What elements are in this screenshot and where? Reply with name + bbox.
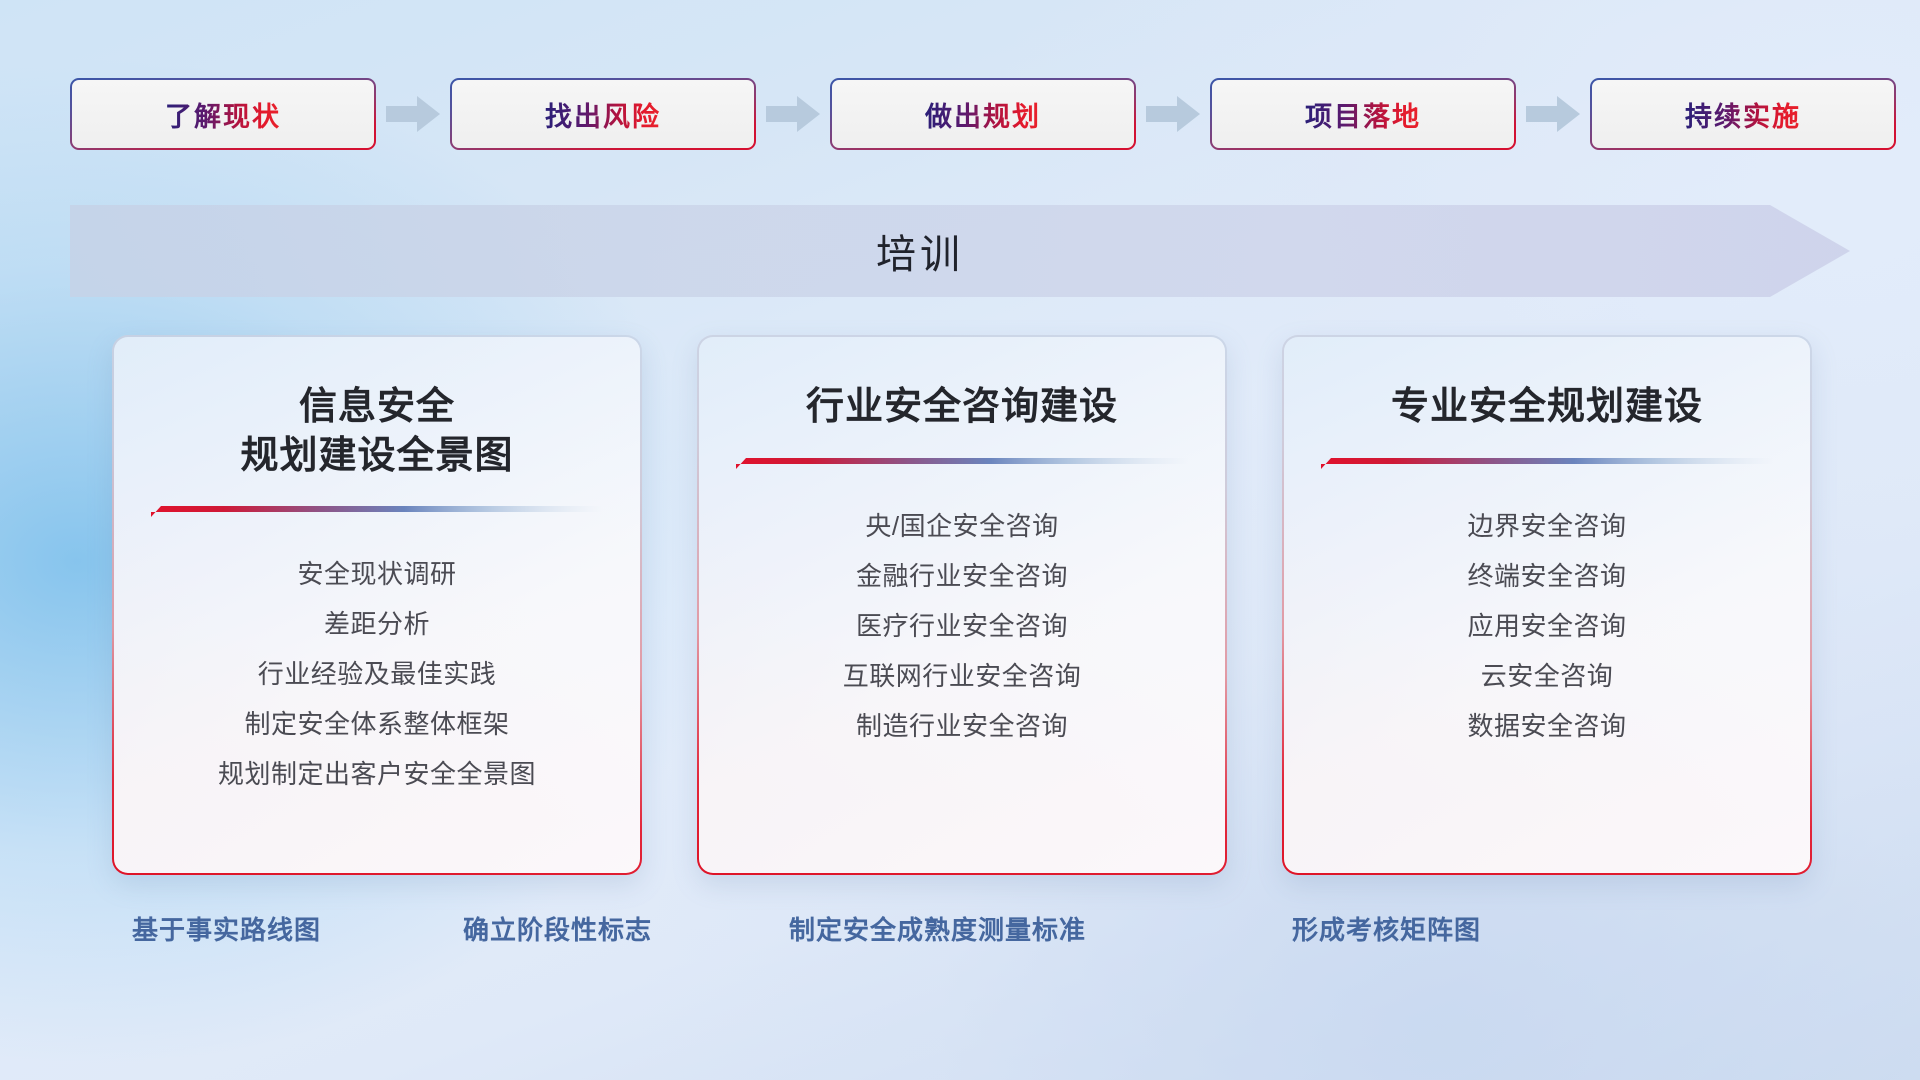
step-box-2[interactable]: 找出风险 <box>450 78 756 150</box>
card-3-inner: 专业安全规划建设 <box>1284 337 1810 873</box>
bottom-label-4: 形成考核矩阵图 <box>1292 910 1481 947</box>
card-2-list-item: 医疗行业安全咨询 <box>725 601 1199 651</box>
card-2-list-item: 央/国企安全咨询 <box>725 501 1199 551</box>
arrow-right-icon-4 <box>1524 92 1582 136</box>
step-box-4-inner: 项目落地 <box>1212 80 1514 148</box>
card-1-divider <box>151 506 603 517</box>
step-label-5: 持续实施 <box>1685 95 1801 134</box>
slide-canvas: 了解现状 找出风险 做出规划 <box>0 0 1920 1080</box>
step-box-3[interactable]: 做出规划 <box>830 78 1136 150</box>
bottom-label-1: 基于事实路线图 <box>132 910 321 947</box>
process-step-strip: 了解现状 找出风险 做出规划 <box>70 78 1850 150</box>
bottom-label-2: 确立阶段性标志 <box>463 910 652 947</box>
card-2-title: 行业安全咨询建设 <box>806 383 1118 432</box>
card-3-list-item: 应用安全咨询 <box>1310 601 1784 651</box>
arrow-right-icon-3 <box>1144 92 1202 136</box>
step-box-5-inner: 持续实施 <box>1592 80 1894 148</box>
step-box-2-inner: 找出风险 <box>452 80 754 148</box>
card-1-list-item: 行业经验及最佳实践 <box>140 649 614 699</box>
card-2-divider <box>736 458 1188 469</box>
card-1-title-line2: 规划建设全景图 <box>240 432 513 481</box>
card-1-list-item: 制定安全体系整体框架 <box>140 699 614 749</box>
card-3-divider <box>1321 458 1773 469</box>
step-box-1-inner: 了解现状 <box>72 80 374 148</box>
bottom-label-3: 制定安全成熟度测量标准 <box>789 910 1086 947</box>
step-label-3: 做出规划 <box>925 95 1041 134</box>
card-1-inner: 信息安全 规划建设全景图 <box>114 337 640 873</box>
card-1-title: 信息安全 规划建设全景图 <box>240 383 513 480</box>
card-3-list-item: 云安全咨询 <box>1310 651 1784 701</box>
card-3-title-line1: 专业安全规划建设 <box>1391 383 1703 432</box>
step-box-3-inner: 做出规划 <box>832 80 1134 148</box>
step-label-4: 项目落地 <box>1305 95 1421 134</box>
step-box-1[interactable]: 了解现状 <box>70 78 376 150</box>
card-3-title: 专业安全规划建设 <box>1391 383 1703 432</box>
card-1-list-item: 差距分析 <box>140 599 614 649</box>
card-3[interactable]: 专业安全规划建设 <box>1282 335 1812 875</box>
card-2-list-item: 互联网行业安全咨询 <box>725 651 1199 701</box>
step-box-5[interactable]: 持续实施 <box>1590 78 1896 150</box>
training-title: 培训 <box>70 205 1770 297</box>
card-1[interactable]: 信息安全 规划建设全景图 <box>112 335 642 875</box>
card-2[interactable]: 行业安全咨询建设 <box>697 335 1227 875</box>
card-2-inner: 行业安全咨询建设 <box>699 337 1225 873</box>
card-2-list: 央/国企安全咨询 金融行业安全咨询 医疗行业安全咨询 互联网行业安全咨询 制造行… <box>725 501 1199 751</box>
step-box-4[interactable]: 项目落地 <box>1210 78 1516 150</box>
card-3-list-item: 终端安全咨询 <box>1310 551 1784 601</box>
card-3-list-item: 数据安全咨询 <box>1310 701 1784 751</box>
card-1-list: 安全现状调研 差距分析 行业经验及最佳实践 制定安全体系整体框架 规划制定出客户… <box>140 549 614 799</box>
card-1-title-line1: 信息安全 <box>240 383 513 432</box>
card-3-list-item: 边界安全咨询 <box>1310 501 1784 551</box>
card-3-list: 边界安全咨询 终端安全咨询 应用安全咨询 云安全咨询 数据安全咨询 <box>1310 501 1784 751</box>
card-1-list-item: 规划制定出客户安全全景图 <box>140 749 614 799</box>
arrow-right-icon-1 <box>384 92 442 136</box>
card-2-list-item: 制造行业安全咨询 <box>725 701 1199 751</box>
card-2-title-line1: 行业安全咨询建设 <box>806 383 1118 432</box>
step-label-1: 了解现状 <box>165 95 281 134</box>
step-label-2: 找出风险 <box>545 95 661 134</box>
cards-row: 信息安全 规划建设全景图 <box>112 335 1812 875</box>
card-1-list-item: 安全现状调研 <box>140 549 614 599</box>
card-2-list-item: 金融行业安全咨询 <box>725 551 1199 601</box>
training-banner: 培训 <box>70 205 1850 297</box>
arrow-right-icon-2 <box>764 92 822 136</box>
bottom-labels-row: 基于事实路线图 确立阶段性标志 制定安全成熟度测量标准 形成考核矩阵图 <box>0 910 1920 966</box>
